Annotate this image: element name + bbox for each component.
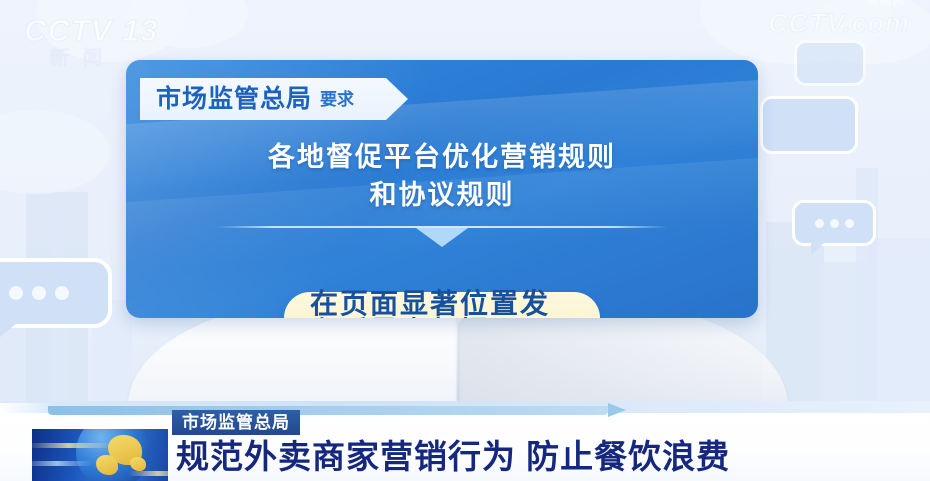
card-statement: 各地督促平台优化营销规则 和协议规则 <box>126 138 758 214</box>
card-highlight-pill: 在页面显著位置发布适量点餐提示 <box>284 292 600 318</box>
bubble-dot <box>845 219 854 228</box>
globe-landmass <box>130 457 146 471</box>
agency-tag-text: 市场监管总局 <box>182 414 290 431</box>
bubble-dot <box>830 219 839 228</box>
cloud-shape-5 <box>0 110 110 194</box>
bubble-dot <box>815 219 824 228</box>
agency-tag: 市场监管总局 <box>172 410 300 435</box>
card-header-tag: 市场监管总局 要求 <box>140 78 408 120</box>
chevron-down-icon <box>416 228 468 247</box>
lower-banner: 市场监管总局 规范外卖商家营销行为 防止餐饮浪费 <box>0 403 930 481</box>
globe-light-streak <box>32 461 92 466</box>
card-statement-line1: 各地督促平台优化营销规则 <box>126 138 758 176</box>
bubble-dot <box>32 286 46 300</box>
card-highlight-text: 在页面显著位置发布适量点餐提示 <box>310 290 574 318</box>
globe-light-streak <box>32 443 112 448</box>
speech-bubble-left <box>0 258 112 328</box>
news-graphic-stage: CCTV 13 新闻 央视网 CCTV.com 市场监管总局 要求 各地督促平台… <box>0 0 930 481</box>
bubble-dot <box>9 286 23 300</box>
info-card: 市场监管总局 要求 各地督促平台优化营销规则 和协议规则 在页面显著位置发布适量… <box>126 60 758 318</box>
globe-logo <box>32 429 168 481</box>
globe-landmass <box>96 455 118 475</box>
card-statement-line2: 和协议规则 <box>126 176 758 214</box>
globe-light-streak <box>128 471 168 476</box>
speech-bubble-right-upper <box>760 96 858 154</box>
bubble-dot <box>55 286 69 300</box>
speech-bubble-right-lower <box>792 200 876 246</box>
card-header-suffix: 要求 <box>320 91 354 108</box>
headline: 规范外卖商家营销行为 防止餐饮浪费 <box>176 435 730 479</box>
speech-bubble-right-top <box>794 40 866 86</box>
banner-progress-bar <box>48 406 608 415</box>
card-header-title: 市场监管总局 <box>156 87 312 112</box>
